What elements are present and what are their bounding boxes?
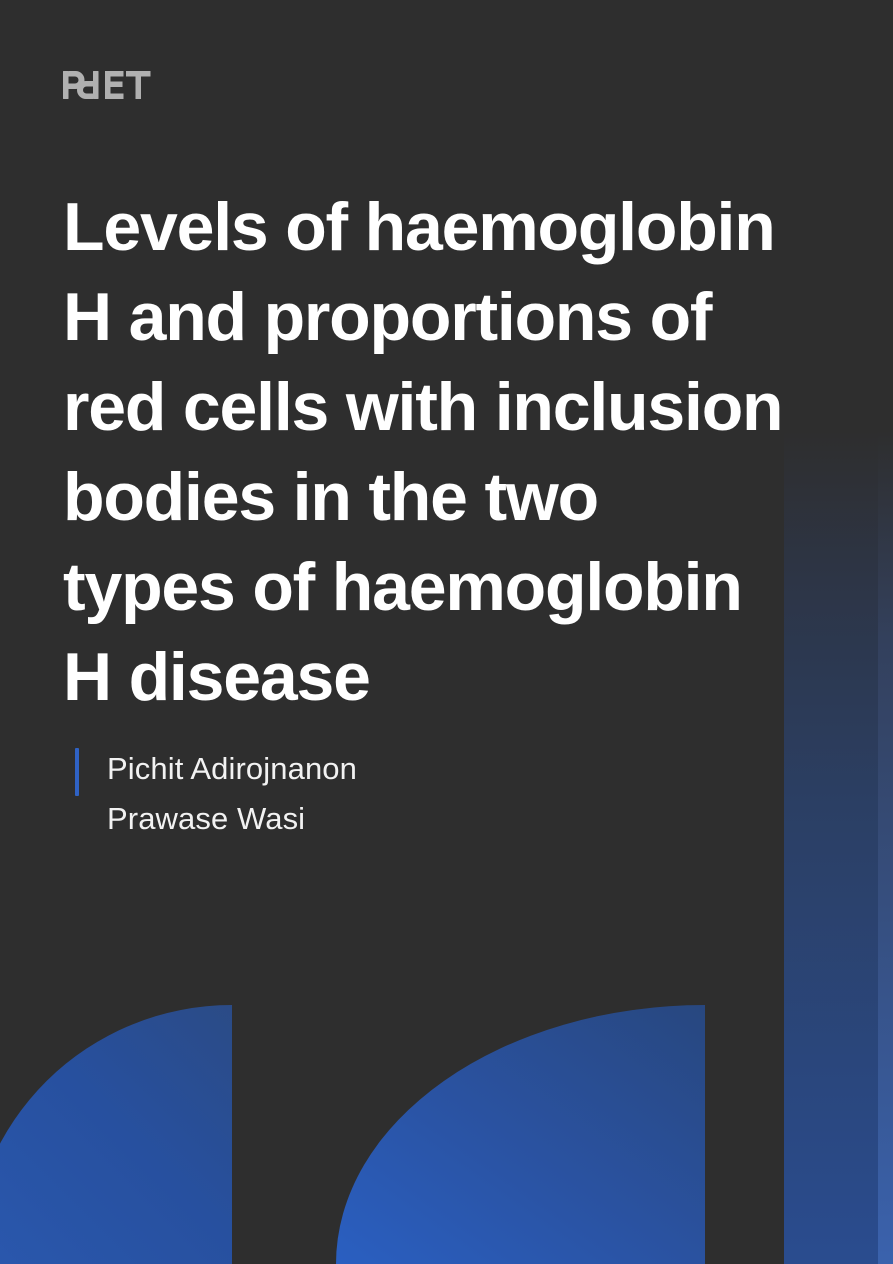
title-line: types of haemoglobin bbox=[63, 542, 863, 632]
decor-shape-center-quarter-circle bbox=[336, 1005, 705, 1264]
authors: Pichit Adirojnanon Prawase Wasi bbox=[75, 744, 357, 844]
author-name: Prawase Wasi bbox=[107, 794, 357, 844]
author-name: Pichit Adirojnanon bbox=[107, 744, 357, 794]
author-accent-bar bbox=[75, 748, 79, 796]
title-line: Levels of haemoglobin bbox=[63, 182, 863, 272]
authors-list: Pichit Adirojnanon Prawase Wasi bbox=[107, 744, 357, 844]
poet-logo[interactable]: POET bbox=[62, 69, 158, 101]
decor-shape-left-quarter-circle bbox=[0, 1005, 232, 1264]
title-line: H disease bbox=[63, 632, 863, 722]
title-line: red cells with inclusion bbox=[63, 362, 863, 452]
title-line: bodies in the two bbox=[63, 452, 863, 542]
document-cover-page: POET Levels of haemoglobin H and proport… bbox=[0, 0, 893, 1264]
decor-shape-right-edge-highlight bbox=[878, 430, 893, 1264]
poet-logo-icon: POET bbox=[62, 69, 158, 101]
title-line: H and proportions of bbox=[63, 272, 863, 362]
page-title: Levels of haemoglobin H and proportions … bbox=[63, 182, 863, 722]
